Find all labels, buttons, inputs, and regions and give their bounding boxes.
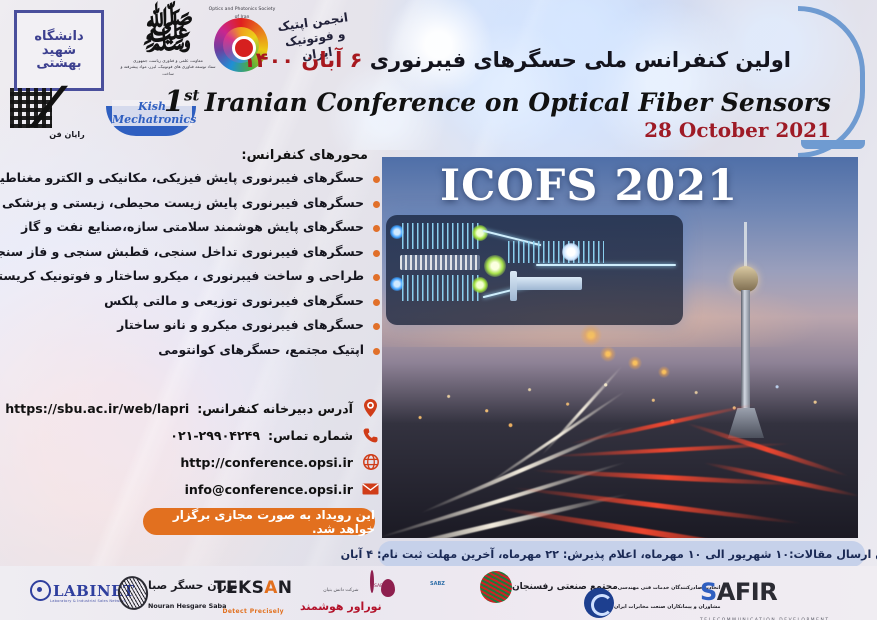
highway-light-trails: [382, 328, 858, 538]
contact-row-address: آدرس دبیرخانه کنفرانس: https://sbu.ac.ir…: [0, 398, 380, 418]
labinet-atom-icon: [30, 580, 51, 601]
ordinal-number: 1st: [164, 84, 200, 118]
photonic-chip-overlay: [386, 215, 683, 325]
contact-row-website: http://conference.opsi.ir: [0, 452, 380, 472]
title-persian-text: اولین کنفرانس ملی حسگرهای فیبرنوری: [370, 48, 791, 72]
conference-hero-image: ICOFS 2021: [382, 157, 858, 538]
list-item: حسگرهای فیبرنوری توزیعی و مالتی پلکس: [0, 293, 382, 309]
contact-address-value[interactable]: https://sbu.ac.ir/web/lapri: [5, 401, 189, 416]
list-item: حسگرهای فیبرنوری تداخل سنجی، قطبش سنجی و…: [0, 244, 382, 260]
contact-phone-label: شماره تماس:: [268, 428, 353, 443]
iran-logo-caption: معاونت علمی و فناوری ریاست جمهوریستاد تو…: [120, 58, 216, 77]
logo-iran-vice-presidency: ﷺ معاونت علمی و فناوری ریاست جمهوریستاد …: [120, 12, 216, 90]
caliper-jaw: [510, 271, 517, 301]
sponsor-teksan: TEKSAN Detect Precisely: [214, 578, 292, 617]
list-item: حسگرهای فیبرنوری میکرو و نانو ساختار: [0, 317, 382, 333]
chip-sensor-array: [400, 255, 480, 270]
sponsor-strip: LABINET Laboratory & Industrial Sales Ne…: [0, 566, 877, 620]
list-item: حسگرهای پایش هوشمند سلامتی سازه،صنایع نف…: [0, 219, 382, 235]
tower-pod: [733, 266, 758, 292]
tower-mast: [744, 222, 747, 270]
conference-acronym: ICOFS 2021: [440, 161, 738, 211]
light-trail: [493, 505, 790, 538]
coupler-glow: [484, 255, 506, 277]
contact-row-phone: شماره تماس: ۰۲۱-۲۹۹۰۴۲۴۹: [0, 425, 380, 445]
caliper-icon: [514, 277, 582, 290]
sbu-logo-glyph: دانشگاهشهیدبهشتی: [34, 30, 83, 71]
envelope-icon: [361, 479, 380, 499]
virtual-event-notice: این رویداد به صورت مجازی برگزار خواهد شد…: [143, 508, 375, 535]
iran-emblem-icon: ﷺ: [120, 12, 216, 56]
interference-pattern: [508, 241, 604, 263]
contact-website-value[interactable]: http://conference.opsi.ir: [180, 455, 353, 470]
saba-emblem-icon: [370, 570, 374, 593]
sponsor-sublabel: Detect Precisely: [222, 608, 284, 615]
topics-heading: محورهای کنفرانس:: [241, 148, 368, 163]
ordinal-suffix: st: [184, 86, 199, 104]
chip-grating-glow: [472, 225, 488, 241]
date-english: 28 October 2021: [644, 118, 831, 142]
chip-grating-glow: [472, 277, 488, 293]
phone-icon: [361, 425, 380, 445]
sponsor-sabz: SABZ: [430, 570, 445, 589]
list-item: حسگرهای فیبرنوری پایش فیزیکی، مکانیکی و …: [0, 170, 382, 186]
rayan-logo-caption: رایان فن: [28, 130, 106, 139]
deadline-bar: زمان ارسال مقالات:۱۰ شهریور الی ۱۰ مهرما…: [378, 541, 865, 567]
fiber-bragg-grating: [402, 275, 482, 301]
union-swirl-icon: [584, 588, 614, 618]
sponsor-saba: SABA: [370, 572, 386, 591]
sponsor-label: SAFIR: [700, 578, 777, 606]
sponsor-safir: SAFIR TELECOMMUNICATION DEVELOPMENT: [700, 578, 830, 620]
rafsanjan-emblem-icon: [480, 571, 512, 603]
nouran-disc-icon: [115, 573, 151, 612]
logo-rayan-fan: ⁄ رایان فن: [10, 88, 106, 144]
list-item: حسگرهای فیبرنوری پایش زیست محیطی، زیستی …: [0, 195, 382, 211]
fiber-bragg-grating: [402, 223, 482, 249]
page-title-english-wrap: 1st Iranian Conference on Optical Fiber …: [164, 84, 831, 118]
contact-address-label: آدرس دبیرخانه کنفرانس:: [197, 401, 353, 416]
contact-phone-value[interactable]: ۰۲۱-۲۹۹۰۴۲۴۹: [170, 428, 260, 443]
contact-row-email: info@conference.opsi.ir: [0, 479, 380, 499]
contact-block: آدرس دبیرخانه کنفرانس: https://sbu.ac.ir…: [0, 398, 380, 506]
list-item: اپتیک مجتمع، حسگرهای کوانتومی: [0, 342, 382, 358]
sponsor-label: TEKSAN: [214, 578, 292, 598]
waveguide-output: [536, 264, 676, 266]
sponsor-sublabel: شرکت دانش بنیان: [323, 588, 358, 593]
conference-poster: دانشگاهشهیدبهشتی ﷺ معاونت علمی و فناوری …: [0, 0, 877, 620]
topics-list: حسگرهای فیبرنوری پایش فیزیکی، مکانیکی و …: [0, 170, 382, 366]
rayan-slash-icon: ⁄: [44, 86, 90, 132]
sponsor-label: SABZ: [430, 581, 445, 587]
chip-output-light: [562, 243, 580, 261]
sponsor-sublabel: Laboratory & Industrial Sales Network: [50, 599, 126, 603]
sponsor-label: نوراور هوشمند: [300, 600, 382, 613]
page-title-persian: اولین کنفرانس ملی حسگرهای فیبرنوری ۶ آبا…: [243, 48, 791, 72]
page-title-english: Iranian Conference on Optical Fiber Sens…: [205, 88, 831, 117]
contact-email-value[interactable]: info@conference.opsi.ir: [185, 482, 353, 497]
globe-icon: [361, 452, 380, 472]
logo-shahid-beheshti-university: دانشگاهشهیدبهشتی: [14, 10, 104, 91]
map-pin-icon: [361, 398, 380, 418]
opsi-core-icon: [232, 36, 256, 60]
date-persian: ۶ آبان ۱۴۰۰: [243, 48, 363, 72]
list-item: طراحی و ساخت فیبرنوری ، میکرو ساختار و ف…: [0, 268, 382, 284]
